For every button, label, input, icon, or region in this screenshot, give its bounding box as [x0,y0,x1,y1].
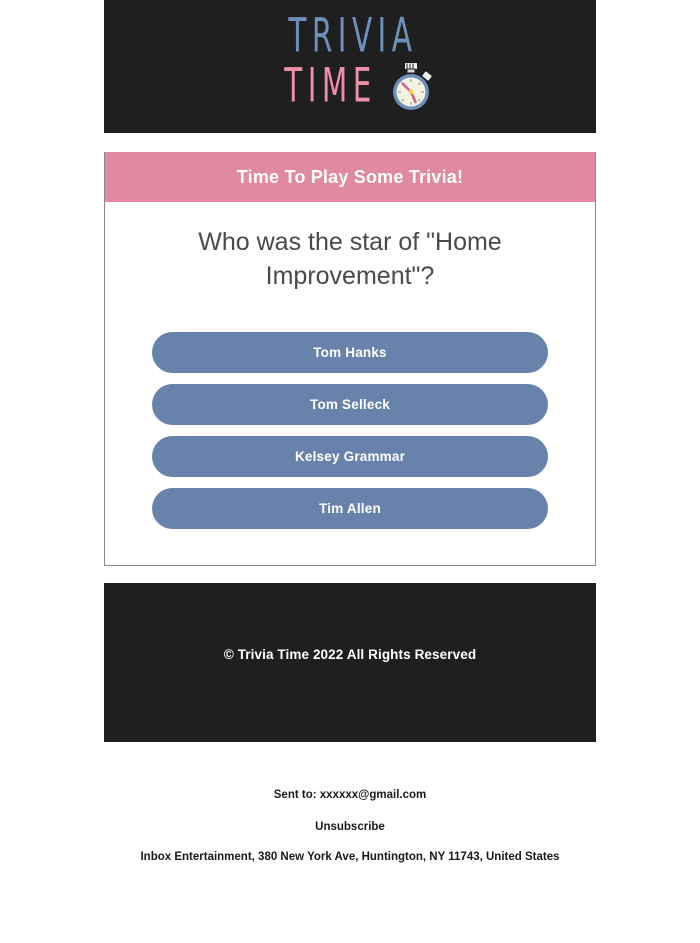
card-header-title: Time To Play Some Trivia! [237,167,463,188]
answer-option-1[interactable]: Tom Hanks [152,332,548,373]
company-address: Inbox Entertainment, 380 New York Ave, H… [140,851,559,863]
sender-info: Sent to: xxxxxx@gmail.com Unsubscribe In… [104,789,596,863]
answer-option-4[interactable]: Tim Allen [152,488,548,529]
answer-options-list: Tom Hanks Tom Selleck Kelsey Grammar Tim… [105,332,595,529]
question-text: Who was the star of "Home Improvement"? [150,226,550,294]
unsubscribe-link[interactable]: Unsubscribe [315,821,385,833]
copyright-text: © Trivia Time 2022 All Rights Reserved [224,647,476,742]
footer-dark-panel: © Trivia Time 2022 All Rights Reserved [104,583,596,742]
trivia-card: Time To Play Some Trivia! Who was the st… [104,152,596,566]
answer-option-3[interactable]: Kelsey Grammar [152,436,548,477]
logo-word-trivia: TRIVIA [283,15,417,58]
trivia-time-logo: TRIVIA TIME [264,17,436,111]
sent-to-text: Sent to: xxxxxx@gmail.com [274,789,426,801]
logo-line-bottom: TIME [265,60,435,112]
logo-word-time: TIME [279,64,377,107]
stopwatch-icon [389,60,435,116]
logo-line-top: TRIVIA [264,17,436,56]
email-masthead: TRIVIA TIME [104,0,596,133]
email-page: TRIVIA TIME [0,0,700,943]
answer-option-2[interactable]: Tom Selleck [152,384,548,425]
card-header-bar: Time To Play Some Trivia! [105,152,595,202]
